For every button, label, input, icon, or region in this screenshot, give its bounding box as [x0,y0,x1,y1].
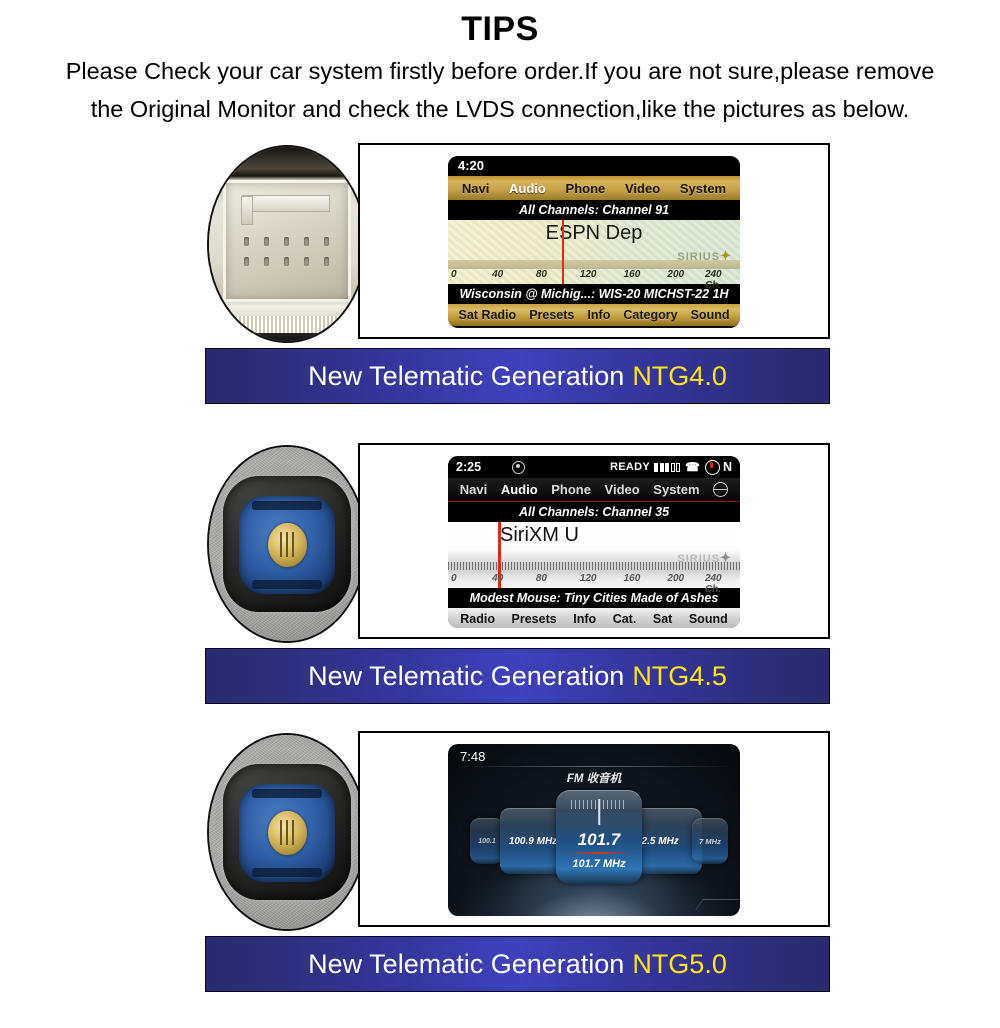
tick-label: 240 Ch. [705,573,728,595]
plug-wire-bundle [225,316,350,333]
menu-item-audio[interactable]: Audio [509,181,546,196]
banner-code: NTG4.5 [632,661,727,691]
head-unit-display-ntg50: 7:48 FM 收音机 100.1 100.9 MHz 101.7 101.7 … [448,744,740,916]
phone-icon: ☎ [685,460,700,474]
connector-circle-outline [207,733,367,931]
tuner-panel[interactable]: ESPN Dep SIRIUS✦ 0 40 80 120 160 200 240… [448,220,740,284]
status-time: 4:20 [448,156,740,176]
bottom-item-presets[interactable]: Presets [512,612,557,626]
menu-item-navi[interactable]: Navi [462,181,489,196]
menu-item-video[interactable]: Video [605,482,640,497]
head-unit-display-ntg45: 2:25 READY ☎ N Navi Audio Phone Video Sy… [448,456,740,628]
status-time: 2:25 [456,460,512,474]
tick-label: 40 [492,269,503,280]
banner-text-ntg50: New Telematic GenerationNTG5.0 [308,949,727,979]
lvds-connector-white-plug-image [209,147,365,341]
connector-photo-ntg45 [207,443,370,648]
bottom-item-sound[interactable]: Sound [689,612,728,626]
status-bar: 2:25 READY ☎ N [448,456,740,478]
tuner-scale: 0 40 80 120 160 200 240 Ch. [448,573,740,587]
menu-item-navi[interactable]: Navi [460,482,487,497]
section-ntg40: 4:20 Navi Audio Phone Video System All C… [0,143,1000,348]
banner-text-ntg45: New Telematic GenerationNTG4.5 [308,661,727,691]
connector-photo-ntg40 [207,143,370,348]
selected-frequency: 101.7 [556,830,642,850]
connector-circle-outline [207,445,367,643]
tuner-band [448,260,740,269]
banner-label: New Telematic Generation [308,949,624,979]
connector-circle-outline [207,145,367,343]
banner-label: New Telematic Generation [308,661,624,691]
now-playing-text: Wisconsin @ Michig...: WIS-20 MICHST-22 … [448,284,740,304]
bottom-menu-bar[interactable]: Radio Presets Info Cat. Sat Sound [448,608,740,628]
lvds-connector-round-plug-image [209,447,365,641]
tuner-panel[interactable]: SiriXM U SIRIUS✦ 0 40 80 120 160 200 240… [448,522,740,588]
plug-pin-grid [237,232,337,272]
warning-icon [705,460,720,475]
tick-label: 240 Ch. [705,269,728,291]
connector-photo-ntg50 [207,731,370,936]
selected-frequency-sub: 101.7 MHz [556,858,642,870]
menu-item-video[interactable]: Video [625,181,660,196]
signal-strength-icon [654,463,680,472]
banner-ntg50: New Telematic GenerationNTG5.0 [205,936,830,992]
tick-label: 120 [580,269,597,280]
screenshot-frame-ntg50: 7:48 FM 收音机 100.1 100.9 MHz 101.7 101.7 … [358,731,830,927]
main-menu-bar[interactable]: Navi Audio Phone Video System [448,478,740,502]
bottom-item-info[interactable]: Info [587,308,610,322]
tick-label: 200 [667,573,684,584]
bottom-item-info[interactable]: Info [573,612,596,626]
tuner-scale: 0 40 80 120 160 200 240 Ch. [448,269,740,283]
menu-item-audio[interactable]: Audio [501,482,538,497]
menu-item-phone[interactable]: Phone [551,482,591,497]
globe-icon[interactable] [713,482,728,497]
channel-header: All Channels: Channel 91 [448,200,740,220]
selected-underline [565,852,634,854]
station-name: ESPN Dep [448,222,740,245]
menu-item-system[interactable]: System [680,181,726,196]
bottom-item-cat[interactable]: Cat. [613,612,637,626]
plug-housing [223,180,351,302]
section-ntg50: 7:48 FM 收音机 100.1 100.9 MHz 101.7 101.7 … [0,731,1000,936]
screenshot-frame-ntg45: 2:25 READY ☎ N Navi Audio Phone Video Sy… [358,443,830,639]
tick-label: 80 [536,573,547,584]
now-playing-text: Modest Mouse: Tiny Cities Made of Ashes [448,588,740,608]
section-ntg50-media: 7:48 FM 收音机 100.1 100.9 MHz 101.7 101.7 … [0,731,1000,936]
menu-item-phone[interactable]: Phone [566,181,606,196]
gear-indicator: N [723,460,732,474]
bottom-item-presets[interactable]: Presets [529,308,574,322]
bottom-item-sat[interactable]: Sat [653,612,672,626]
plug-latch [242,195,330,212]
carousel-tile-selected[interactable]: 101.7 101.7 MHz [556,790,642,884]
channel-header: All Channels: Channel 35 [448,502,740,522]
section-ntg40-media: 4:20 Navi Audio Phone Video System All C… [0,143,1000,348]
status-time: 7:48 [460,749,485,764]
tips-line-1: Please Check your car system firstly bef… [0,52,1000,90]
bottom-item-sound[interactable]: Sound [691,308,730,322]
tick-label: 160 [624,269,641,280]
lvds-connector-round-plug-image [209,735,365,929]
banner-code: NTG4.0 [632,361,727,391]
tick-label: 0 [451,269,457,280]
bottom-menu-bar[interactable]: Sat Radio Presets Info Category Sound [448,304,740,326]
banner-label: New Telematic Generation [308,361,624,391]
tick-label: 160 [624,573,641,584]
tips-line-2: the Original Monitor and check the LVDS … [0,90,1000,128]
head-unit-display-ntg40: 4:20 Navi Audio Phone Video System All C… [448,156,740,328]
tick-label: 120 [580,573,597,584]
header-divider [456,766,732,767]
tick-label: 0 [451,573,457,584]
main-menu-bar[interactable]: Navi Audio Phone Video System [448,176,740,200]
recording-dot-icon [512,461,525,474]
tips-header: TIPS Please Check your car system firstl… [0,0,1000,130]
page-title: TIPS [0,8,1000,50]
screenshot-frame-ntg40: 4:20 Navi Audio Phone Video System All C… [358,143,830,339]
tick-label: 200 [667,269,684,280]
banner-ntg45: New Telematic GenerationNTG4.5 [205,648,830,704]
screen-title: FM 收音机 [448,770,740,786]
section-ntg45: 2:25 READY ☎ N Navi Audio Phone Video Sy… [0,443,1000,648]
bottom-item-sat-radio[interactable]: Sat Radio [459,308,517,322]
banner-text-ntg40: New Telematic GenerationNTG4.0 [308,361,727,391]
corner-accent [695,899,740,910]
section-ntg45-media: 2:25 READY ☎ N Navi Audio Phone Video Sy… [0,443,1000,648]
bottom-item-category[interactable]: Category [623,308,677,322]
frequency-pointer-icon [598,799,600,825]
status-ready-label: READY [610,461,650,473]
tick-label: 80 [536,269,547,280]
bottom-item-radio[interactable]: Radio [460,612,495,626]
banner-code: NTG5.0 [632,949,727,979]
tick-label: 40 [492,573,503,584]
banner-ntg40: New Telematic GenerationNTG4.0 [205,348,830,404]
tuner-band [448,562,740,570]
station-name: SiriXM U [500,524,579,547]
menu-item-system[interactable]: System [653,482,699,497]
